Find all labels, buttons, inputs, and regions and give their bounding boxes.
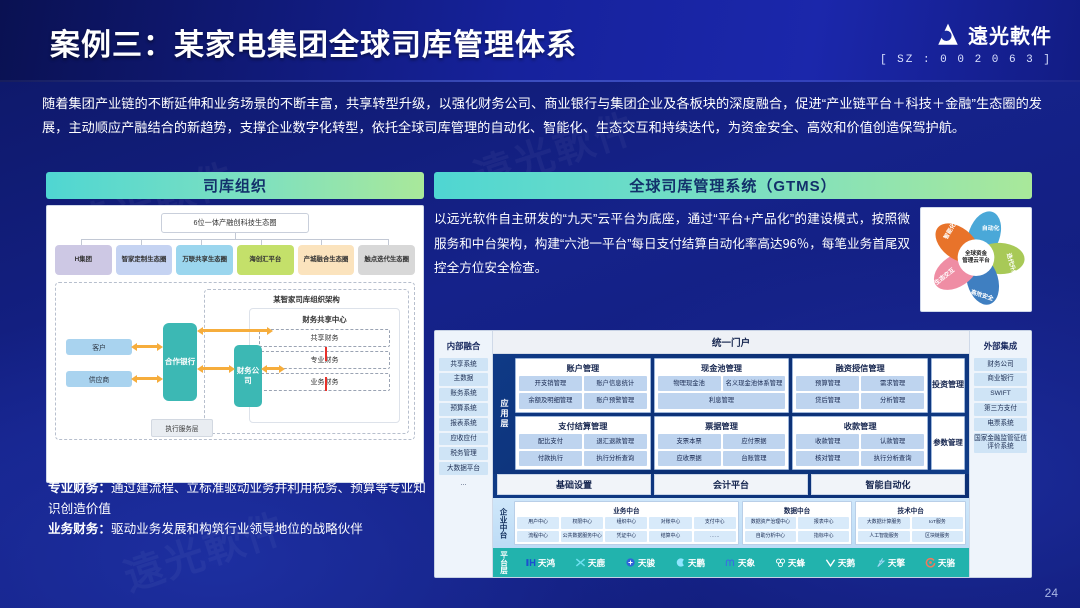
module-item[interactable]: 认款管理 <box>861 434 924 449</box>
module-item[interactable]: 执行分析查询 <box>584 451 647 466</box>
flow-arrow <box>136 345 158 348</box>
platform-product[interactable]: 天鹅 <box>825 557 855 569</box>
external-item: 国家金融监管征信评价系统 <box>974 433 1027 454</box>
module-title: 账户管理 <box>519 361 647 376</box>
partner-bank-box: 合作银行 <box>163 323 197 401</box>
platform-product[interactable]: 天擎 <box>875 557 905 569</box>
base-setting-cell[interactable]: 基础设置 <box>497 474 651 495</box>
midplatform-title: 技术中台 <box>858 504 963 517</box>
platform-product-name: 天蜂 <box>788 557 805 569</box>
external-item: 财务公司 <box>974 358 1027 371</box>
module-account-management[interactable]: 账户管理 开支销管理 账户信息统计 余额及明细管理 账户预警管理 <box>515 358 651 413</box>
internal-item: … <box>439 477 488 490</box>
module-investment-management[interactable]: 投资管理 <box>931 358 965 413</box>
module-item[interactable]: 台账管理 <box>723 451 786 466</box>
platform-product-name: 天鹏 <box>688 557 705 569</box>
module-title: 融资授信管理 <box>796 361 924 376</box>
customer-box: 客户 <box>66 339 132 355</box>
note-label: 专业财务： <box>48 481 111 495</box>
module-title: 票据管理 <box>658 419 786 434</box>
note-item: 专业财务：通过建流程、立标准驱动业务并利用税务、预算等专业知识创造价值 <box>48 478 434 519</box>
org-architecture-title: 某智家司库组织架构 <box>205 294 408 305</box>
platform-product[interactable]: 天鹏 <box>675 557 705 569</box>
supplier-box: 供应商 <box>66 371 132 387</box>
eco-cell: H集团 <box>55 245 112 275</box>
svg-text:全球资金: 全球资金 <box>964 249 988 257</box>
note-label: 业务财务： <box>48 522 111 536</box>
midplatform-item[interactable]: 区块链服务 <box>912 531 963 542</box>
external-integration-column: 外部集成 财务公司 商业银行 SWIFT 第三方支付 电票系统 国家金融监管征信… <box>969 331 1031 577</box>
note-label: 共享财务： <box>48 461 111 475</box>
external-item: 商业银行 <box>974 373 1027 386</box>
finance-company-box: 财务公司 <box>234 345 262 407</box>
tianjun-icon <box>625 557 636 568</box>
midplatform-title: 数据中台 <box>745 504 850 517</box>
base-capability-bar: 基础设置 会计平台 智能自动化 <box>493 474 969 498</box>
external-integration-title: 外部集成 <box>970 331 1031 358</box>
org-chart-card: 6位一体产融创科技生态圈 H集团 智家定制生态圈 万联共享生态圈 海创汇平台 产… <box>46 205 424 483</box>
midplatform-item[interactable]: 对账中心 <box>649 517 691 528</box>
midplatform-item[interactable]: 用户中心 <box>517 517 559 528</box>
module-item[interactable]: 账户信息统计 <box>584 376 647 391</box>
system-core-column: 统一门户 应用层 账户管理 开支销管理 账户信息统计 余额及明细管理 账户预警管… <box>493 331 969 577</box>
enterprise-midplatform-label: 企业中台 <box>496 501 511 545</box>
tianxiang-icon <box>725 557 736 568</box>
finance-shared-center-title: 财务共享中心 <box>250 309 399 325</box>
flow-arrow <box>202 367 230 370</box>
platform-product[interactable]: 天鹿 <box>575 557 605 569</box>
left-notes: 共享财务：高效交易处理的财务共享则实现了“集约型”转变 专业财务：通过建流程、立… <box>48 458 434 540</box>
midplatform-item[interactable]: 人工智能服务 <box>858 531 909 542</box>
tianluo-icon <box>925 557 936 568</box>
internal-item: 税务管理 <box>439 447 488 460</box>
external-item: 电票系统 <box>974 418 1027 431</box>
internal-item: 大数据平台 <box>439 462 488 475</box>
page-title: 案例三：某家电集团全球司库管理体系 <box>50 20 577 64</box>
module-grid: 账户管理 开支销管理 账户信息统计 余额及明细管理 账户预警管理 现金池管理 物… <box>515 358 965 470</box>
finance-shared-center-box: 财务共享中心 共享财务 专业财务 业务财务 <box>249 308 400 423</box>
tech-midplatform-group: 技术中台 大数据计算服务 IoT服务 人工智能服务 区块链服务 <box>855 501 966 545</box>
midplatform-title: 业务中台 <box>517 504 736 517</box>
module-title: 支付结算管理 <box>519 419 647 434</box>
eco-cell: 产城融合生态圈 <box>298 245 355 275</box>
internal-item: 账务系统 <box>439 388 488 401</box>
midplatform-item[interactable]: …… <box>694 531 736 542</box>
platform-product-name: 天骏 <box>638 557 655 569</box>
midplatform-item[interactable]: 凭证中心 <box>605 531 647 542</box>
midplatform-item[interactable]: 报表中心 <box>798 517 849 528</box>
application-layer-label: 应用层 <box>497 358 512 470</box>
module-item[interactable]: 应付票据 <box>723 434 786 449</box>
platform-product[interactable]: 天鸿 <box>525 557 555 569</box>
internal-item: 主数据 <box>439 373 488 386</box>
module-item[interactable]: 退汇退款管理 <box>584 434 647 449</box>
eco-top-node: 6位一体产融创科技生态圈 <box>161 213 309 233</box>
module-item[interactable]: 配比支付 <box>519 434 582 449</box>
svg-text:自动化: 自动化 <box>982 224 1000 232</box>
module-bill-management[interactable]: 票据管理 支票本票 应付票据 应收票据 台账管理 <box>654 416 790 471</box>
module-item[interactable]: 应收票据 <box>658 451 721 466</box>
platform-product[interactable]: 天象 <box>725 557 755 569</box>
application-layer-zone: 应用层 账户管理 开支销管理 账户信息统计 余额及明细管理 账户预警管理 现金池… <box>493 354 969 474</box>
midplatform-item[interactable]: 大数据计算服务 <box>858 517 909 528</box>
eco-cell-row: H集团 智家定制生态圈 万联共享生态圈 海创汇平台 产城融合生态圈 触点迭代生态… <box>55 245 415 275</box>
intro-paragraph: 随着集团产业链的不断延伸和业务场景的不断丰富，共享转型升级，以强化财务公司、商业… <box>42 92 1042 141</box>
petal-diagram-card: 全球资金 管理云平台 自动化 智能化 生态交互 高效安全 迭代升级 <box>920 207 1032 312</box>
eco-connectors <box>55 233 415 245</box>
eco-cell: 万联共享生态圈 <box>176 245 233 275</box>
left-panel: 司库组织 6位一体产融创科技生态圈 H集团 智家定制生态圈 万联共享生态圈 海创… <box>46 172 424 483</box>
module-financing-credit-management[interactable]: 融资授信管理 预算管理 需求管理 贷后管理 分析管理 <box>792 358 928 413</box>
external-item: 第三方支付 <box>974 403 1027 416</box>
five-petal-diagram-icon: 全球资金 管理云平台 自动化 智能化 生态交互 高效安全 迭代升级 <box>921 208 1031 311</box>
yuanguang-triangle-logo-icon <box>935 22 961 48</box>
module-item[interactable]: 物理现金池 <box>658 376 721 391</box>
module-item[interactable]: 账户预警管理 <box>584 393 647 408</box>
intelligent-automation-cell[interactable]: 智能自动化 <box>811 474 965 495</box>
flow-arrow <box>266 367 280 370</box>
midplatform-item[interactable]: 支付中心 <box>694 517 736 528</box>
module-title: 现金池管理 <box>658 361 786 376</box>
fsc-item: 共享财务 <box>259 329 390 347</box>
platform-layer-zone: 平台层 天鸿 天鹿 天骏 天鹏 <box>493 548 969 577</box>
platform-product-name: 天鸿 <box>538 557 555 569</box>
note-text: 驱动业务发展和构筑行业领导地位的战略伙伴 <box>111 522 363 536</box>
midplatform-item[interactable]: 结算中心 <box>649 531 691 542</box>
org-architecture-box: 某智家司库组织架构 财务共享中心 共享财务 专业财务 业务财务 客户 供应商 合… <box>55 282 415 440</box>
page-number: 24 <box>1045 586 1058 600</box>
module-payment-settlement-management[interactable]: 支付结算管理 配比支付 退汇退款管理 付款执行 执行分析查询 <box>515 416 651 471</box>
internal-integration-title: 内部融合 <box>435 331 492 358</box>
accounting-platform-cell[interactable]: 会计平台 <box>654 474 808 495</box>
note-item: 业务财务：驱动业务发展和构筑行业领导地位的战略伙伴 <box>48 519 434 539</box>
module-row: 账户管理 开支销管理 账户信息统计 余额及明细管理 账户预警管理 现金池管理 物… <box>515 358 965 413</box>
module-item[interactable]: 贷后管理 <box>796 393 859 408</box>
module-item[interactable]: 利息管理 <box>658 393 786 408</box>
midplatform-item[interactable]: 权限中心 <box>561 517 603 528</box>
midplatform-item[interactable]: 流程中心 <box>517 531 559 542</box>
data-midplatform-group: 数据中台 数据资产治理中心 报表中心 自助分析中心 指标中心 <box>742 501 853 545</box>
module-item[interactable]: 需求管理 <box>861 376 924 391</box>
internal-item: 应收应付 <box>439 433 488 446</box>
module-title: 收款管理 <box>796 419 924 434</box>
brand-block: 遠光軟件 [ SZ : 0 0 2 0 6 3 ] <box>880 20 1052 66</box>
module-parameter-management[interactable]: 参数管理 <box>931 416 965 471</box>
external-item: SWIFT <box>974 388 1027 401</box>
module-item[interactable]: 支票本票 <box>658 434 721 449</box>
platform-product-name: 天擎 <box>888 557 905 569</box>
midplatform-item[interactable]: 组织中心 <box>605 517 647 528</box>
enterprise-midplatform-zone: 企业中台 业务中台 用户中心 权限中心 组织中心 对账中心 支付中心 流程中心 … <box>493 498 969 548</box>
right-panel: 全球司库管理系统（GTMS） 以远光软件自主研发的“九天”云平台为底座，通过“平… <box>434 172 1032 312</box>
execution-layer-box: 执行服务层 <box>151 419 213 437</box>
right-panel-title: 全球司库管理系统（GTMS） <box>434 172 1032 199</box>
platform-product[interactable]: 天骆 <box>925 557 955 569</box>
internal-item: 报表系统 <box>439 418 488 431</box>
platform-product-name: 天象 <box>738 557 755 569</box>
eco-cell: 海创汇平台 <box>237 245 294 275</box>
platform-product[interactable]: 天骏 <box>625 557 655 569</box>
midplatform-item[interactable]: IoT服务 <box>912 517 963 528</box>
module-cash-pool-management[interactable]: 现金池管理 物理现金池 名义现金池体系管理 利息管理 <box>654 358 790 413</box>
module-item[interactable]: 分析管理 <box>861 393 924 408</box>
platform-product[interactable]: 天蜂 <box>775 557 805 569</box>
flow-arrow <box>202 329 268 332</box>
module-item[interactable]: 付款执行 <box>519 451 582 466</box>
midplatform-item[interactable]: 指标中心 <box>798 531 849 542</box>
module-row: 支付结算管理 配比支付 退汇退款管理 付款执行 执行分析查询 票据管理 支票本票… <box>515 416 965 471</box>
internal-item: 共享系统 <box>439 358 488 371</box>
midplatform-item[interactable]: 公共数据服务中心 <box>561 531 603 542</box>
business-midplatform-group: 业务中台 用户中心 权限中心 组织中心 对账中心 支付中心 流程中心 公共数据服… <box>514 501 739 545</box>
internal-integration-column: 内部融合 共享系统 主数据 账务系统 预算系统 报表系统 应收应付 税务管理 大… <box>435 331 493 577</box>
module-item[interactable]: 名义现金池体系管理 <box>723 376 786 391</box>
slide-header: 案例三：某家电集团全球司库管理体系 遠光軟件 [ SZ : 0 0 2 0 6 … <box>0 0 1080 82</box>
tianlu-icon <box>575 557 586 568</box>
module-item[interactable]: 执行分析查询 <box>861 451 924 466</box>
eco-cell: 触点迭代生态圈 <box>358 245 415 275</box>
system-architecture-card: 内部融合 共享系统 主数据 账务系统 预算系统 报表系统 应收应付 税务管理 大… <box>434 330 1032 578</box>
platform-layer-label: 平台层 <box>497 551 511 574</box>
platform-product-name: 天骆 <box>938 557 955 569</box>
tianpeng-icon <box>675 557 686 568</box>
note-text: 高效交易处理的财务共享则实现了“集约型”转变 <box>111 461 371 475</box>
platform-product-name: 天鹿 <box>588 557 605 569</box>
internal-item: 预算系统 <box>439 403 488 416</box>
stock-code: [ SZ : 0 0 2 0 6 3 ] <box>880 54 1052 66</box>
tiane-icon <box>825 557 836 568</box>
eco-cell: 智家定制生态圈 <box>116 245 173 275</box>
module-collection-management[interactable]: 收款管理 收款管理 认款管理 核对管理 执行分析查询 <box>792 416 928 471</box>
platform-product-name: 天鹅 <box>838 557 855 569</box>
module-item[interactable]: 余额及明细管理 <box>519 393 582 408</box>
svg-text:管理云平台: 管理云平台 <box>962 256 990 264</box>
module-item[interactable]: 收款管理 <box>796 434 859 449</box>
tianqing-icon <box>875 557 886 568</box>
flow-arrow <box>136 377 158 380</box>
module-item[interactable]: 开支销管理 <box>519 376 582 391</box>
left-panel-title: 司库组织 <box>46 172 424 199</box>
module-item[interactable]: 核对管理 <box>796 451 859 466</box>
tianfeng-icon <box>775 557 786 568</box>
brand-name: 遠光軟件 <box>968 20 1052 49</box>
tianhong-icon <box>525 557 536 568</box>
note-item: 共享财务：高效交易处理的财务共享则实现了“集约型”转变 <box>48 458 434 478</box>
unified-portal-bar: 统一门户 <box>493 331 969 354</box>
midplatform-item[interactable]: 数据资产治理中心 <box>745 517 796 528</box>
module-item[interactable]: 预算管理 <box>796 376 859 391</box>
midplatform-item[interactable]: 自助分析中心 <box>745 531 796 542</box>
gtms-description: 以远光软件自主研发的“九天”云平台为底座，通过“平台+产品化”的建设模式，按照微… <box>434 207 910 312</box>
